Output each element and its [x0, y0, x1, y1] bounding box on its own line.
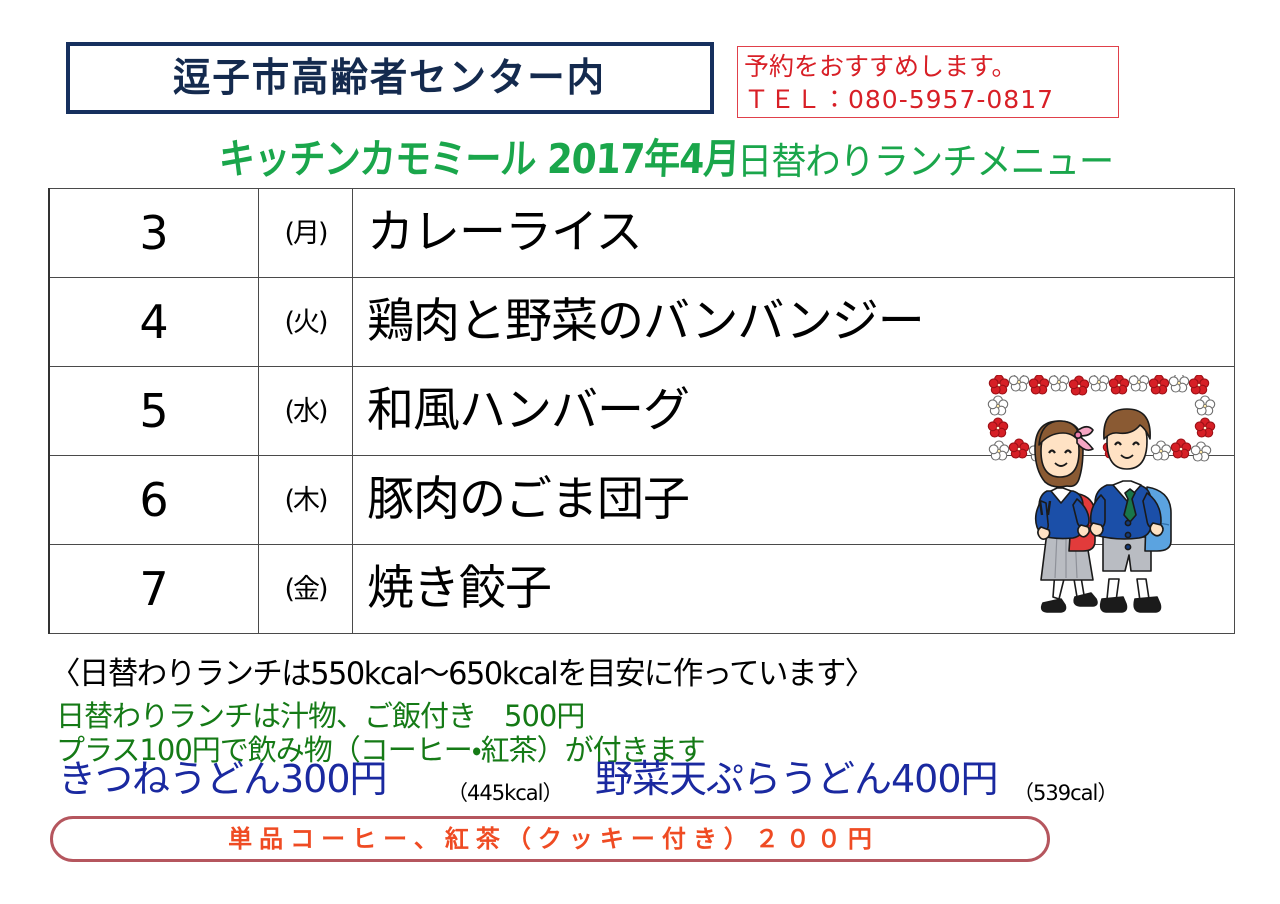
menu-weekday: (木) — [259, 487, 352, 514]
udon-item-name: きつねうどん300円 — [58, 760, 387, 798]
menu-date: 4 — [50, 299, 258, 345]
menu-date: 6 — [50, 477, 258, 523]
menu-weekday: (水) — [259, 398, 352, 425]
venue-title: 逗子市高齢者センター内 — [174, 59, 607, 98]
menu-item: 焼き餃子 — [353, 564, 1234, 613]
menu-flyer-page: 逗子市高齢者センター内 予約をおすすめします。 ＴＥＬ：080-5957-081… — [0, 0, 1280, 904]
menu-date: 5 — [50, 388, 258, 434]
daily-menu-table: 3 (月) カレーライス 4 (火) 鶏肉と野菜のバンバンジー 5 (水) 和風… — [48, 188, 1235, 634]
table-row: 3 (月) カレーライス — [49, 189, 1235, 278]
table-row: 6 (木) 豚肉のごま団子 — [49, 456, 1235, 545]
menu-date: 3 — [50, 210, 258, 256]
page-title: キッチンカモミール 2017年4月 日替わりランチメニュー — [0, 130, 1280, 180]
table-row: 7 (金) 焼き餃子 — [49, 545, 1235, 634]
venue-title-box: 逗子市高齢者センター内 — [66, 42, 714, 114]
table-row: 4 (火) 鶏肉と野菜のバンバンジー — [49, 278, 1235, 367]
menu-weekday: (月) — [259, 220, 352, 247]
udon-item-name: 野菜天ぷらうどん400円 — [595, 760, 998, 798]
header-row: 逗子市高齢者センター内 予約をおすすめします。 ＴＥＬ：080-5957-081… — [0, 38, 1280, 126]
coffee-offer-text: 単品コーヒー、紅茶（クッキー付き）２００円 — [221, 827, 879, 851]
menu-weekday: (金) — [259, 576, 352, 603]
calorie-range-note: 〈日替わりランチは550kcal〜650kcalを目安に作っています〉 — [50, 648, 874, 693]
coffee-offer-box: 単品コーヒー、紅茶（クッキー付き）２００円 — [50, 816, 1050, 862]
menu-item: カレーライス — [353, 208, 1234, 257]
menu-item: 和風ハンバーグ — [353, 386, 1234, 435]
udon-item-calories: （445kcal） — [447, 783, 563, 804]
udon-item-calories: （539cal） — [1013, 783, 1117, 804]
menu-item: 鶏肉と野菜のバンバンジー — [353, 297, 1234, 346]
menu-item: 豚肉のごま団子 — [353, 475, 1234, 524]
table-row: 5 (水) 和風ハンバーグ — [49, 367, 1235, 456]
udon-price-row: きつねうどん300円 （445kcal） 野菜天ぷらうどん400円 （539ca… — [50, 758, 1200, 808]
menu-weekday: (火) — [259, 309, 352, 336]
reservation-note: 予約をおすすめします。 — [744, 50, 1118, 83]
daily-lunch-menu-label: 日替わりランチメニュー — [737, 143, 1113, 180]
menu-date: 7 — [50, 566, 258, 612]
reservation-contact-box: 予約をおすすめします。 ＴＥＬ：080-5957-0817 — [737, 46, 1119, 118]
shop-name-and-month: キッチンカモミール 2017年4月 — [217, 139, 739, 180]
telephone-number: ＴＥＬ：080-5957-0817 — [744, 83, 1118, 116]
